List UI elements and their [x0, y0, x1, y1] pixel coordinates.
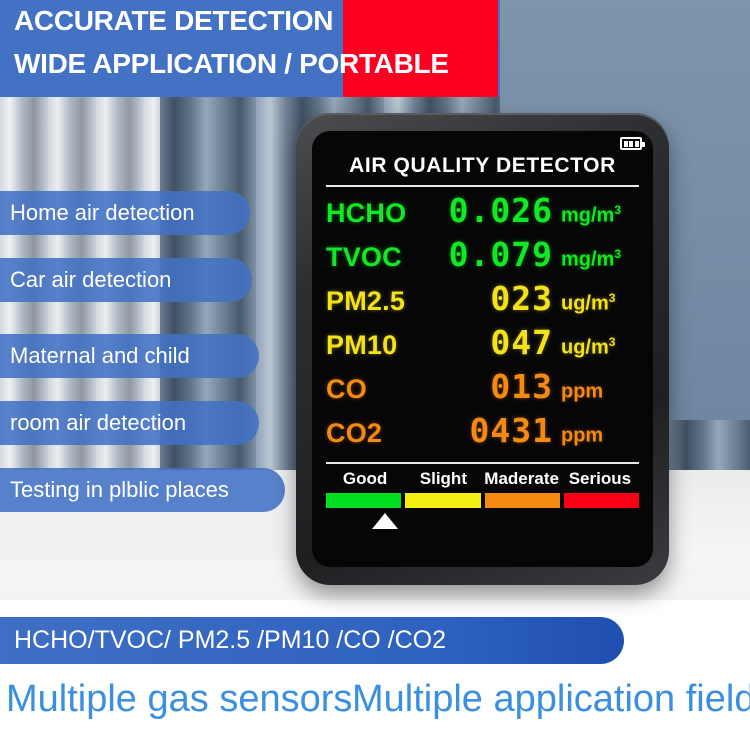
unit-exponent: 3: [614, 203, 621, 217]
readings-list: HCHO 0.026 mg/m3 TVOC 0.079 mg/m3 PM2.5 …: [324, 191, 641, 455]
feature-label: Car air detection: [10, 267, 171, 293]
reading-value: 0.079: [446, 235, 553, 274]
tagline-left: Multiple gas sensors: [6, 678, 352, 721]
device-screen: AIR QUALITY DETECTOR HCHO 0.026 mg/m3 TV…: [312, 131, 653, 567]
reading-unit: ppm: [553, 423, 639, 448]
scale-segment-serious: [564, 493, 639, 508]
reading-row-co2: CO2 0431 ppm: [324, 411, 641, 455]
air-quality-detector-device: AIR QUALITY DETECTOR HCHO 0.026 mg/m3 TV…: [296, 113, 669, 585]
reading-row-pm25: PM2.5 023 ug/m3: [324, 279, 641, 323]
scale-segment-good: [326, 493, 401, 508]
feature-pill-public: Testing in plblic places: [0, 468, 285, 512]
scale-label-serious: Serious: [561, 469, 639, 489]
reading-label: CO2: [326, 418, 446, 449]
unit-text: ug/m: [561, 293, 609, 315]
feature-pill-maternal: Maternal and child: [0, 334, 259, 378]
reading-row-hcho: HCHO 0.026 mg/m3: [324, 191, 641, 235]
unit-exponent: 3: [614, 247, 621, 261]
feature-label: Testing in plblic places: [10, 477, 229, 503]
unit-text: ug/m: [561, 337, 609, 359]
reading-label: PM10: [326, 330, 446, 361]
feature-label: Home air detection: [10, 200, 195, 226]
unit-exponent: 3: [609, 291, 616, 305]
screen-title: AIR QUALITY DETECTOR: [324, 154, 641, 178]
unit-text: ppm: [561, 425, 603, 447]
scale-label-good: Good: [326, 469, 404, 489]
scale-segment-slight: [405, 493, 480, 508]
air-quality-scale: Good Slight Maderate Serious: [324, 462, 641, 529]
feature-pill-car: Car air detection: [0, 258, 252, 302]
scale-label-maderate: Maderate: [483, 469, 561, 489]
feature-label: Maternal and child: [10, 343, 190, 369]
reading-label: TVOC: [326, 242, 446, 273]
reading-unit: mg/m3: [553, 203, 639, 228]
reading-label: PM2.5: [326, 286, 446, 317]
banner-headline-2: WIDE APPLICATION / PORTABLE: [14, 48, 449, 80]
divider-bottom: [326, 462, 639, 464]
reading-unit: mg/m3: [553, 247, 639, 272]
scale-label-slight: Slight: [404, 469, 482, 489]
reading-row-tvoc: TVOC 0.079 mg/m3: [324, 235, 641, 279]
reading-row-pm10: PM10 047 ug/m3: [324, 323, 641, 367]
reading-value: 023: [446, 279, 553, 318]
scale-labels: Good Slight Maderate Serious: [324, 469, 641, 489]
reading-value: 0431: [446, 411, 553, 450]
divider-top: [326, 185, 639, 187]
feature-pill-room: room air detection: [0, 401, 259, 445]
reading-unit: ug/m3: [553, 291, 639, 316]
unit-exponent: 3: [609, 335, 616, 349]
reading-unit: ug/m3: [553, 335, 639, 360]
reading-label: CO: [326, 374, 446, 405]
feature-pill-home: Home air detection: [0, 191, 250, 235]
sensor-list-text: HCHO/TVOC/ PM2.5 /PM10 /CO /CO2: [14, 626, 446, 655]
scale-pointer-triangle-icon: [372, 513, 398, 529]
reading-value: 013: [446, 367, 553, 406]
unit-text: ppm: [561, 381, 603, 403]
battery-icon: [620, 137, 642, 150]
reading-row-co: CO 013 ppm: [324, 367, 641, 411]
tagline-right: Multiple application fields: [352, 678, 750, 721]
unit-text: mg/m: [561, 205, 614, 227]
reading-unit: ppm: [553, 379, 639, 404]
sensor-list-pill: HCHO/TVOC/ PM2.5 /PM10 /CO /CO2: [0, 617, 624, 664]
reading-label: HCHO: [326, 198, 446, 229]
reading-value: 047: [446, 323, 553, 362]
banner-headline-1: ACCURATE DETECTION: [14, 5, 333, 37]
reading-value: 0.026: [446, 191, 553, 230]
unit-text: mg/m: [561, 249, 614, 271]
scale-bar: [324, 493, 641, 508]
feature-label: room air detection: [10, 410, 186, 436]
scale-segment-maderate: [485, 493, 560, 508]
